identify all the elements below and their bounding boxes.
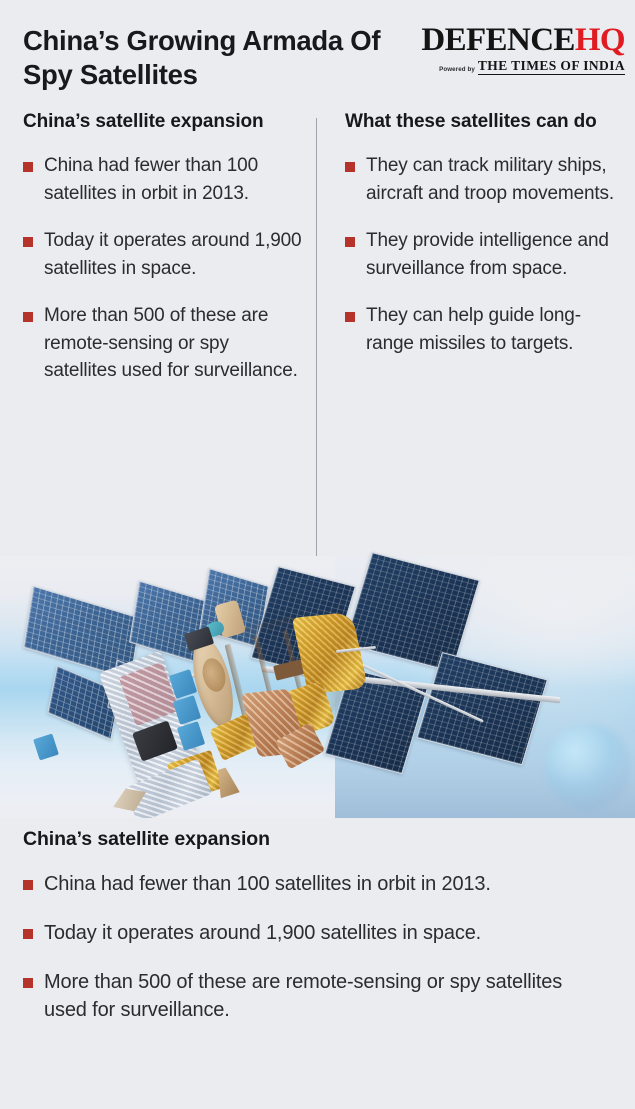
bullet-square-icon bbox=[345, 162, 355, 172]
column-satellite-capabilities: What these satellites can do They can tr… bbox=[345, 110, 627, 377]
page-title: China’s Growing Armada Of Spy Satellites bbox=[23, 24, 433, 92]
list-item-text: More than 500 of these are remote-sensin… bbox=[44, 971, 562, 1021]
logo-publication-name: THE TIMES OF INDIA bbox=[478, 59, 625, 75]
logo-subline: Powered by THE TIMES OF INDIA bbox=[417, 59, 625, 75]
list-item: More than 500 of these are remote-sensin… bbox=[23, 302, 303, 385]
bullet-square-icon bbox=[23, 162, 33, 172]
blue-radiator-tile-4 bbox=[33, 733, 59, 760]
column-right-heading: What these satellites can do bbox=[345, 110, 627, 134]
list-item: They can track military ships, aircraft … bbox=[345, 152, 627, 207]
bottom-bullet-list: China had fewer than 100 satellites in o… bbox=[23, 870, 608, 1045]
list-item-text: They provide intelligence and surveillan… bbox=[366, 230, 609, 279]
list-item-text: China had fewer than 100 satellites in o… bbox=[44, 155, 258, 204]
bullet-square-icon bbox=[23, 237, 33, 247]
list-item-text: Today it operates around 1,900 satellite… bbox=[44, 230, 301, 279]
list-item-text: More than 500 of these are remote-sensin… bbox=[44, 305, 298, 381]
bullet-square-icon bbox=[23, 929, 33, 939]
list-item: China had fewer than 100 satellites in o… bbox=[23, 870, 608, 898]
column-left-heading: China’s satellite expansion bbox=[23, 110, 303, 134]
column-satellite-expansion: China’s satellite expansion China had fe… bbox=[23, 110, 303, 405]
bottom-summary-section: China’s satellite expansion China had fe… bbox=[0, 818, 635, 1109]
header: China’s Growing Armada Of Spy Satellites… bbox=[0, 0, 635, 110]
logo-wordmark: DEFENCEHQ bbox=[417, 24, 625, 57]
list-item: Today it operates around 1,900 satellite… bbox=[23, 919, 608, 947]
logo-text-hq: HQ bbox=[575, 22, 625, 58]
list-item-text: China had fewer than 100 satellites in o… bbox=[44, 873, 491, 895]
list-item-text: They can track military ships, aircraft … bbox=[366, 155, 614, 204]
bullet-square-icon bbox=[23, 312, 33, 322]
bullet-square-icon bbox=[23, 978, 33, 988]
list-item: Today it operates around 1,900 satellite… bbox=[23, 227, 303, 282]
bullet-square-icon bbox=[345, 312, 355, 322]
two-column-facts: China’s satellite expansion China had fe… bbox=[0, 110, 635, 560]
list-item-text: They can help guide long-range missiles … bbox=[366, 305, 581, 354]
solar-panel-right-lower-outer bbox=[416, 652, 548, 766]
logo-powered-by-label: Powered by bbox=[439, 66, 475, 75]
list-item-text: Today it operates around 1,900 satellite… bbox=[44, 922, 481, 944]
solar-panel-right-upper-outer bbox=[344, 552, 480, 672]
list-item: More than 500 of these are remote-sensin… bbox=[23, 968, 608, 1024]
bullet-square-icon bbox=[345, 237, 355, 247]
infographic-page: China’s Growing Armada Of Spy Satellites… bbox=[0, 0, 635, 1109]
list-item: They provide intelligence and surveillan… bbox=[345, 227, 627, 282]
bottom-heading: China’s satellite expansion bbox=[23, 828, 270, 851]
defencehq-logo: DEFENCEHQ Powered by THE TIMES OF INDIA bbox=[417, 24, 625, 76]
column-divider bbox=[316, 118, 317, 558]
list-item: They can help guide long-range missiles … bbox=[345, 302, 627, 357]
list-item: China had fewer than 100 satellites in o… bbox=[23, 152, 303, 207]
satellite-illustration bbox=[0, 540, 635, 830]
logo-text-defence: DEFENCE bbox=[421, 22, 575, 58]
bullet-square-icon bbox=[23, 880, 33, 890]
